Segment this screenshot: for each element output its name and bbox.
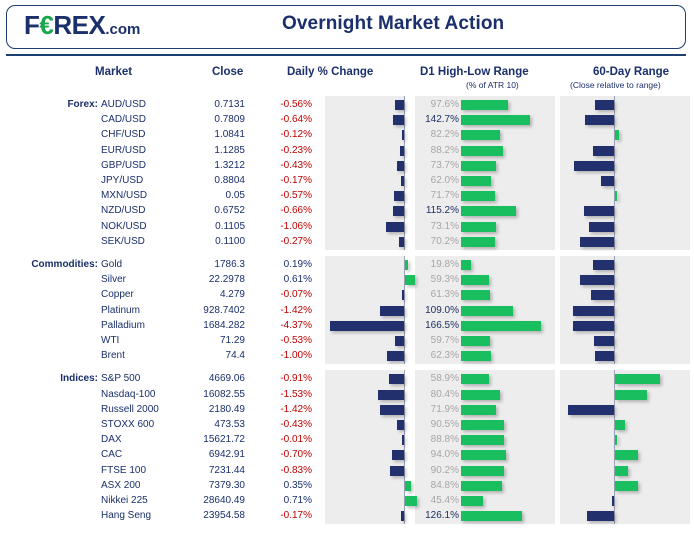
market-name: Palladium <box>101 320 145 331</box>
d1-range-bar <box>461 481 502 491</box>
d1-range-bar <box>461 306 513 316</box>
close-value: 1.1285 <box>170 145 245 156</box>
daily-change-value: -0.27% <box>250 236 312 247</box>
column-header-d1-range: D1 High-Low Range <box>420 66 529 78</box>
d1-range-label: 97.6% <box>414 99 459 110</box>
sixty-day-bar <box>615 466 628 476</box>
daily-change-value: -0.23% <box>250 145 312 156</box>
daily-change-bar <box>401 176 404 186</box>
d1-range-bar <box>461 222 496 232</box>
d1-range-bar <box>461 130 500 140</box>
market-name: Nasdaq-100 <box>101 389 155 400</box>
d1-range-bar <box>461 496 483 506</box>
d1-range-label: 94.0% <box>414 449 459 460</box>
daily-change-bar <box>405 481 411 491</box>
column-header-close: Close <box>212 66 243 78</box>
d1-range-bar <box>461 275 489 285</box>
market-name: JPY/USD <box>101 175 143 186</box>
close-value: 74.4 <box>170 350 245 361</box>
d1-range-label: 73.7% <box>414 160 459 171</box>
daily-change-bar <box>397 161 404 171</box>
sixty-day-bar <box>594 336 614 346</box>
market-name: GBP/USD <box>101 160 146 171</box>
daily-change-value: -0.01% <box>250 434 312 445</box>
sixty-day-bar <box>573 321 614 331</box>
sixty-day-bar <box>591 290 614 300</box>
sixty-day-bar <box>573 306 614 316</box>
daily-change-bar <box>402 130 404 140</box>
market-name: MXN/USD <box>101 190 147 201</box>
daily-change-bar <box>395 100 404 110</box>
d1-range-label: 61.3% <box>414 289 459 300</box>
d1-range-bar <box>461 260 471 270</box>
d1-range-bar <box>461 336 490 346</box>
market-name: Gold <box>101 259 122 270</box>
sixty-day-bar <box>585 115 614 125</box>
chart-panel-2-section-0 <box>560 96 690 250</box>
sixty-day-bar <box>589 222 614 232</box>
logo-dotcom: .com <box>105 21 140 38</box>
d1-range-label: 62.3% <box>414 350 459 361</box>
daily-change-bar <box>402 435 404 445</box>
d1-range-bar <box>461 466 504 476</box>
d1-range-label: 82.2% <box>414 129 459 140</box>
section-label-0: Forex: <box>0 99 98 110</box>
daily-change-bar <box>402 290 404 300</box>
daily-change-value: -0.66% <box>250 205 312 216</box>
d1-range-bar <box>461 405 496 415</box>
close-value: 7379.30 <box>170 480 245 491</box>
d1-range-bar <box>461 450 506 460</box>
d1-range-label: 88.8% <box>414 434 459 445</box>
daily-change-value: 0.61% <box>250 274 312 285</box>
d1-range-bar <box>461 420 504 430</box>
daily-change-bar <box>395 336 404 346</box>
d1-range-bar <box>461 206 516 216</box>
d1-range-label: 73.1% <box>414 221 459 232</box>
daily-change-value: -1.06% <box>250 221 312 232</box>
daily-change-value: -4.37% <box>250 320 312 331</box>
market-name: STOXX 600 <box>101 419 154 430</box>
d1-range-bar <box>461 115 530 125</box>
daily-change-value: -1.42% <box>250 404 312 415</box>
close-value: 473.53 <box>170 419 245 430</box>
column-header-daily-change: Daily % Change <box>287 66 373 78</box>
d1-range-label: 58.9% <box>414 373 459 384</box>
daily-change-value: 0.71% <box>250 495 312 506</box>
close-value: 16082.55 <box>170 389 245 400</box>
d1-range-bar <box>461 237 495 247</box>
close-value: 0.05 <box>170 190 245 201</box>
daily-change-bar <box>380 306 404 316</box>
market-name: DAX <box>101 434 122 445</box>
close-value: 4.279 <box>170 289 245 300</box>
sixty-day-bar <box>615 420 625 430</box>
market-name: Brent <box>101 350 125 361</box>
close-value: 1.3212 <box>170 160 245 171</box>
daily-change-bar <box>397 420 404 430</box>
zero-axis-sixty-day-section-0 <box>614 96 615 250</box>
d1-range-label: 90.2% <box>414 465 459 476</box>
d1-range-label: 62.0% <box>414 175 459 186</box>
daily-change-bar <box>394 191 404 201</box>
daily-change-value: -1.42% <box>250 305 312 316</box>
d1-range-label: 80.4% <box>414 389 459 400</box>
page-title: Overnight Market Action <box>282 13 504 35</box>
daily-change-bar <box>387 351 404 361</box>
daily-change-value: -0.12% <box>250 129 312 140</box>
close-value: 6942.91 <box>170 449 245 460</box>
d1-range-label: 84.8% <box>414 480 459 491</box>
d1-range-bar <box>461 191 495 201</box>
d1-range-bar <box>461 321 541 331</box>
market-name: Hang Seng <box>101 510 151 521</box>
column-subheader-d1-range: (% of ATR 10) <box>466 80 519 90</box>
sixty-day-bar <box>615 435 617 445</box>
daily-change-value: -0.17% <box>250 175 312 186</box>
close-value: 1786.3 <box>170 259 245 270</box>
d1-range-label: 71.7% <box>414 190 459 201</box>
daily-change-bar <box>390 466 404 476</box>
sixty-day-bar <box>615 450 638 460</box>
d1-range-label: 71.9% <box>414 404 459 415</box>
daily-change-value: 0.35% <box>250 480 312 491</box>
daily-change-value: -0.53% <box>250 335 312 346</box>
daily-change-value: -0.17% <box>250 510 312 521</box>
market-name: EUR/USD <box>101 145 146 156</box>
sixty-day-bar <box>593 146 614 156</box>
logo-letters-rex: REX <box>53 10 105 40</box>
market-name: Silver <box>101 274 126 285</box>
d1-range-bar <box>461 161 496 171</box>
close-value: 2180.49 <box>170 404 245 415</box>
close-value: 1684.282 <box>170 320 245 331</box>
daily-change-bar <box>392 450 404 460</box>
column-header-market: Market <box>95 66 132 78</box>
zero-axis-sixty-day-section-1 <box>614 256 615 364</box>
close-value: 928.7402 <box>170 305 245 316</box>
close-value: 4669.06 <box>170 373 245 384</box>
market-name: SEK/USD <box>101 236 145 247</box>
d1-range-bar <box>461 390 500 400</box>
logo-letter-f: F <box>24 10 39 40</box>
column-subheader-sixty-day: (Close relative to range) <box>570 80 661 90</box>
sixty-day-bar <box>595 100 614 110</box>
close-value: 23954.58 <box>170 510 245 521</box>
daily-change-bar <box>401 511 404 521</box>
daily-change-value: -0.83% <box>250 465 312 476</box>
daily-change-value: 0.19% <box>250 259 312 270</box>
close-value: 0.7131 <box>170 99 245 110</box>
close-value: 0.1100 <box>170 236 245 247</box>
market-name: Nikkei 225 <box>101 495 148 506</box>
sixty-day-bar <box>580 275 614 285</box>
daily-change-value: -0.64% <box>250 114 312 125</box>
d1-range-label: 70.2% <box>414 236 459 247</box>
daily-change-value: -1.53% <box>250 389 312 400</box>
d1-range-bar <box>461 374 489 384</box>
daily-change-value: -0.91% <box>250 373 312 384</box>
d1-range-bar <box>461 100 508 110</box>
daily-change-value: -1.00% <box>250 350 312 361</box>
daily-change-value: -0.56% <box>250 99 312 110</box>
d1-range-label: 90.5% <box>414 419 459 430</box>
sixty-day-bar <box>568 405 614 415</box>
sixty-day-bar <box>615 390 647 400</box>
close-value: 28640.49 <box>170 495 245 506</box>
d1-range-bar <box>461 146 503 156</box>
close-value: 71.29 <box>170 335 245 346</box>
daily-change-bar <box>399 237 404 247</box>
market-name: CAC <box>101 449 122 460</box>
sixty-day-bar <box>615 481 638 491</box>
d1-range-label: 88.2% <box>414 145 459 156</box>
d1-range-bar <box>461 176 491 186</box>
daily-change-bar <box>393 206 404 216</box>
header-divider <box>6 54 686 56</box>
d1-range-label: 45.4% <box>414 495 459 506</box>
close-value: 0.1105 <box>170 221 245 232</box>
daily-change-bar <box>393 115 404 125</box>
daily-change-value: -0.07% <box>250 289 312 300</box>
sixty-day-bar <box>574 161 614 171</box>
daily-change-value: -0.70% <box>250 449 312 460</box>
market-name: Platinum <box>101 305 140 316</box>
daily-change-bar <box>400 146 404 156</box>
d1-range-label: 126.1% <box>414 510 459 521</box>
close-value: 7231.44 <box>170 465 245 476</box>
market-name: AUD/USD <box>101 99 146 110</box>
market-name: FTSE 100 <box>101 465 146 476</box>
zero-axis-daily-change-section-1 <box>404 256 405 364</box>
daily-change-value: -0.57% <box>250 190 312 201</box>
d1-range-bar <box>461 351 491 361</box>
d1-range-label: 19.8% <box>414 259 459 270</box>
market-name: NOK/USD <box>101 221 147 232</box>
market-name: ASX 200 <box>101 480 140 491</box>
sixty-day-bar <box>595 351 614 361</box>
sixty-day-bar <box>593 260 614 270</box>
market-name: CAD/USD <box>101 114 146 125</box>
close-value: 1.0841 <box>170 129 245 140</box>
daily-change-bar <box>389 374 404 384</box>
sixty-day-bar <box>601 176 614 186</box>
market-name: Copper <box>101 289 134 300</box>
close-value: 0.7809 <box>170 114 245 125</box>
zero-axis-daily-change-section-0 <box>404 96 405 250</box>
close-value: 22.2978 <box>170 274 245 285</box>
d1-range-bar <box>461 435 504 445</box>
d1-range-bar <box>461 290 490 300</box>
market-name: WTI <box>101 335 119 346</box>
d1-range-label: 166.5% <box>414 320 459 331</box>
logo-euro-icon: € <box>39 12 53 38</box>
daily-change-bar <box>405 260 408 270</box>
daily-change-value: -0.43% <box>250 160 312 171</box>
d1-range-label: 59.3% <box>414 274 459 285</box>
sixty-day-bar <box>580 237 614 247</box>
forex-logo: F€REX.com <box>24 12 140 43</box>
section-label-2: Indices: <box>0 373 98 384</box>
close-value: 0.8804 <box>170 175 245 186</box>
daily-change-value: -0.43% <box>250 419 312 430</box>
d1-range-label: 142.7% <box>414 114 459 125</box>
market-name: Russell 2000 <box>101 404 159 415</box>
sixty-day-bar <box>615 130 619 140</box>
daily-change-bar <box>380 405 404 415</box>
market-name: NZD/USD <box>101 205 145 216</box>
d1-range-bar <box>461 511 522 521</box>
sixty-day-bar <box>615 191 617 201</box>
d1-range-label: 59.7% <box>414 335 459 346</box>
daily-change-bar <box>378 390 404 400</box>
close-value: 0.6752 <box>170 205 245 216</box>
daily-change-bar <box>330 321 404 331</box>
market-name: S&P 500 <box>101 373 140 384</box>
column-header-sixty-day: 60-Day Range <box>593 66 669 78</box>
sixty-day-bar <box>615 374 660 384</box>
sixty-day-bar <box>587 511 614 521</box>
daily-change-bar <box>386 222 404 232</box>
sixty-day-bar <box>612 496 614 506</box>
close-value: 15621.72 <box>170 434 245 445</box>
section-label-1: Commodities: <box>0 259 98 270</box>
market-name: CHF/USD <box>101 129 145 140</box>
d1-range-label: 109.0% <box>414 305 459 316</box>
d1-range-label: 115.2% <box>414 205 459 216</box>
sixty-day-bar <box>584 206 614 216</box>
